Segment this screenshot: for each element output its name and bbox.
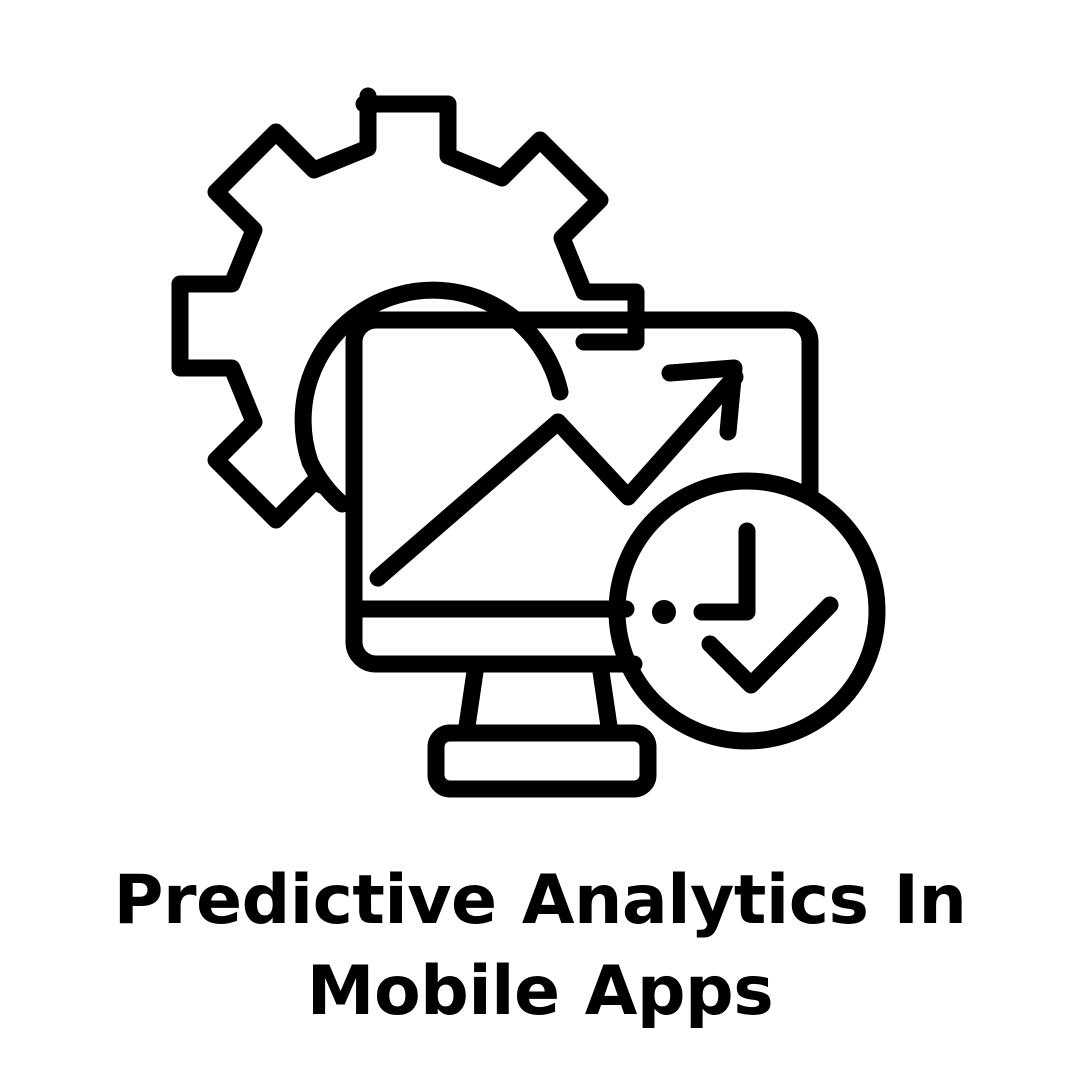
clock-dot-icon — [652, 600, 676, 624]
predictive-analytics-icon — [140, 62, 940, 842]
gear-inner-circle-icon-lower — [310, 462, 342, 504]
illustration-container — [0, 62, 1080, 842]
page-title: Predictive Analytics In Mobile Apps — [40, 855, 1040, 1037]
trend-arrow-icon — [378, 377, 735, 578]
monitor-stand-base-icon — [436, 733, 648, 789]
clock-hands-icon — [702, 531, 747, 612]
gear-icon — [180, 96, 636, 520]
monitor-stand-neck-icon — [466, 665, 610, 733]
page-root: Predictive Analytics In Mobile Apps — [0, 0, 1080, 1080]
title-block: Predictive Analytics In Mobile Apps — [40, 855, 1040, 1037]
